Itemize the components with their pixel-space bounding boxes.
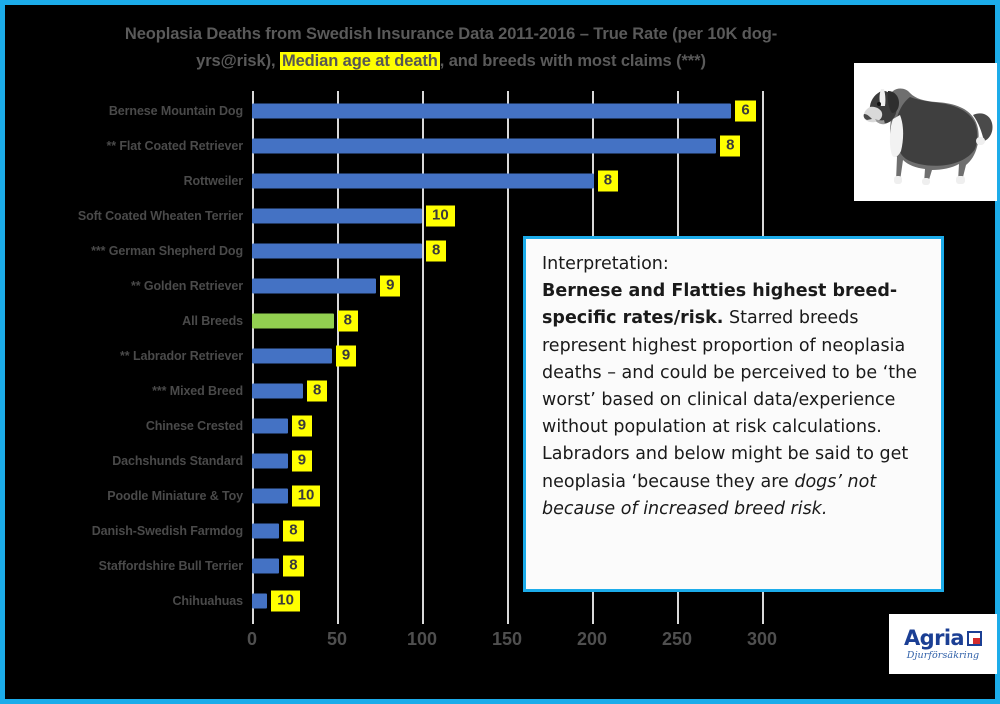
bar (252, 523, 279, 538)
median-age-label: 8 (720, 135, 740, 156)
chart-title-part2: , and breeds with most claims (***) (440, 52, 706, 70)
category-label: Danish-Swedish Farmdog (92, 524, 243, 538)
category-label: ** Golden Retriever (131, 279, 243, 293)
median-age-label: 9 (292, 415, 312, 436)
interpretation-heading: Interpretation: (542, 254, 669, 274)
bar (252, 208, 422, 223)
chart-title-highlight: Median age at death (280, 52, 440, 70)
median-age-label: 8 (598, 170, 618, 191)
interpretation-body: Starred breeds represent highest proport… (542, 308, 917, 491)
bar-row: ** Flat Coated Retriever8 (252, 128, 762, 163)
median-age-label: 8 (338, 310, 358, 331)
bar (252, 558, 279, 573)
category-label: Bernese Mountain Dog (109, 104, 243, 118)
bar (252, 243, 422, 258)
interpretation-box: Interpretation: Bernese and Flatties hig… (523, 236, 944, 592)
bar (252, 348, 332, 363)
bar (252, 453, 288, 468)
agria-square-icon (967, 631, 982, 646)
xtick-label-150: 150 (492, 629, 522, 650)
bar-row: Soft Coated Wheaten Terrier10 (252, 198, 762, 233)
category-label: Dachshunds Standard (112, 454, 243, 468)
agria-logo: Agria Djurförsäkring (889, 614, 997, 674)
median-age-label: 9 (336, 345, 356, 366)
category-label: ** Labrador Retriever (120, 349, 243, 363)
xtick-label-300: 300 (747, 629, 777, 650)
tickmark-300 (762, 616, 764, 624)
category-label: All Breeds (182, 314, 243, 328)
median-age-label: 10 (292, 485, 321, 506)
median-age-label: 10 (271, 590, 300, 611)
bar (252, 488, 288, 503)
category-label: Staffordshire Bull Terrier (99, 559, 243, 573)
bar (252, 278, 376, 293)
median-age-label: 9 (292, 450, 312, 471)
bar (252, 383, 303, 398)
median-age-label: 8 (283, 555, 303, 576)
xtick-label-50: 50 (327, 629, 347, 650)
bernese-mountain-dog-image (854, 63, 997, 201)
xtick-label-0: 0 (247, 629, 257, 650)
category-label: *** German Shepherd Dog (91, 244, 243, 258)
xtick-label-100: 100 (407, 629, 437, 650)
bar-row: Rottweiler8 (252, 163, 762, 198)
agria-brand-text: Agria (904, 627, 964, 649)
median-age-label: 8 (426, 240, 446, 261)
xtick-label-200: 200 (577, 629, 607, 650)
median-age-label: 8 (307, 380, 327, 401)
median-age-label: 6 (735, 100, 755, 121)
agria-subtitle: Djurförsäkring (907, 650, 979, 661)
category-label: Chinese Crested (146, 419, 243, 433)
category-label: Rottweiler (184, 174, 243, 188)
category-label: *** Mixed Breed (152, 384, 243, 398)
dog-illustration-icon (854, 63, 997, 201)
median-age-label: 10 (426, 205, 455, 226)
category-label: Poodle Miniature & Toy (107, 489, 243, 503)
bar (252, 103, 731, 118)
bar (252, 313, 334, 328)
median-age-label: 8 (283, 520, 303, 541)
interpretation-italic-1: dogs’ (794, 472, 842, 492)
bar (252, 593, 267, 608)
bar (252, 418, 288, 433)
category-label: Chihuahuas (172, 594, 243, 608)
bar (252, 138, 716, 153)
bar (252, 173, 594, 188)
xtick-label-250: 250 (662, 629, 692, 650)
agria-logo-row: Agria (904, 627, 982, 649)
category-label: Soft Coated Wheaten Terrier (78, 209, 243, 223)
bar-row: Bernese Mountain Dog6 (252, 93, 762, 128)
chart-canvas: Neoplasia Deaths from Swedish Insurance … (0, 0, 1000, 704)
category-label: ** Flat Coated Retriever (106, 139, 243, 153)
chart-title: Neoplasia Deaths from Swedish Insurance … (101, 21, 801, 75)
median-age-label: 9 (380, 275, 400, 296)
